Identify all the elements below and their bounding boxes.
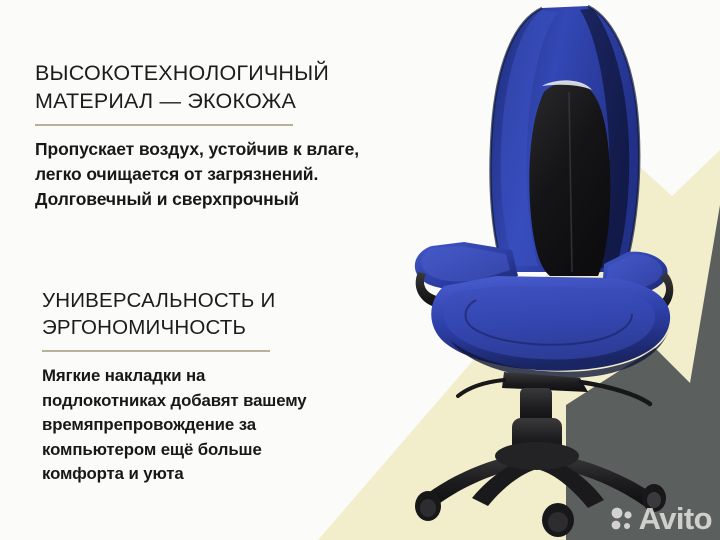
feature-heading-material: ВЫСОКОТЕХНОЛОГИЧНЫЙ МАТЕРИАЛ — ЭКОКОЖА xyxy=(35,60,410,115)
feature-block-material: ВЫСОКОТЕХНОЛОГИЧНЫЙ МАТЕРИАЛ — ЭКОКОЖА П… xyxy=(35,60,410,212)
heading-line: УНИВЕРСАЛЬНОСТЬ И xyxy=(42,289,275,312)
body-line: подлокотниках добавят вашему xyxy=(42,389,412,414)
body-line: Долговечный и сверхпрочный xyxy=(35,187,410,212)
body-line: легко очищается от загрязнений. xyxy=(35,162,410,187)
heading-line: МАТЕРИАЛ — ЭКОКОЖА xyxy=(35,89,296,113)
feature-body-material: Пропускает воздух, устойчив к влаге, лег… xyxy=(35,137,410,212)
heading-line: ВЫСОКОТЕХНОЛОГИЧНЫЙ xyxy=(35,61,329,85)
heading-divider-ergonomic xyxy=(42,350,270,352)
product-card: ВЫСОКОТЕХНОЛОГИЧНЫЙ МАТЕРИАЛ — ЭКОКОЖА П… xyxy=(0,0,720,540)
body-line: комфорта и уюта xyxy=(42,462,412,487)
chair-lever-right xyxy=(580,382,650,404)
heading-divider-material xyxy=(35,124,293,126)
chair-caster-center-inner xyxy=(548,512,568,532)
feature-heading-ergonomic: УНИВЕРСАЛЬНОСТЬ И ЭРГОНОМИЧНОСТЬ xyxy=(42,288,412,341)
body-line: времяпрепровождение за xyxy=(42,413,412,438)
chair-lever-left xyxy=(458,380,504,396)
body-line: Мягкие накладки на xyxy=(42,364,412,389)
body-line: компьютером ещё больше xyxy=(42,438,412,463)
feature-block-ergonomic: УНИВЕРСАЛЬНОСТЬ И ЭРГОНОМИЧНОСТЬ Мягкие … xyxy=(42,288,412,487)
body-line: Пропускает воздух, устойчив к влаге, xyxy=(35,137,410,162)
chair-caster-right-inner xyxy=(647,492,661,508)
chair-base-hub xyxy=(495,442,579,470)
feature-body-ergonomic: Мягкие накладки на подлокотниках добавят… xyxy=(42,364,412,487)
marketing-copy-column: ВЫСОКОТЕХНОЛОГИЧНЫЙ МАТЕРИАЛ — ЭКОКОЖА П… xyxy=(0,0,430,540)
office-chair-icon xyxy=(392,0,720,540)
heading-line: ЭРГОНОМИЧНОСТЬ xyxy=(42,316,246,339)
product-image-chair xyxy=(392,0,720,540)
